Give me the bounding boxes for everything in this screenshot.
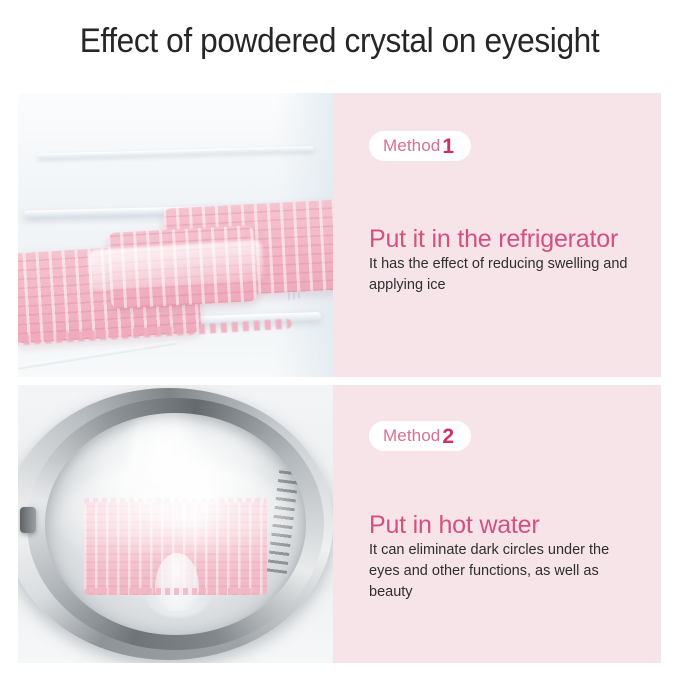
method-2-headline: Put in hot water — [369, 512, 645, 540]
gel-eye-mask-flat — [18, 209, 333, 345]
gel-mask-bead-bottom — [84, 588, 267, 595]
refrigerator-photo — [18, 93, 333, 377]
method-2-badge-word: Method — [383, 426, 440, 446]
method-block-2: Method 2 Put in hot water It can elimina… — [18, 385, 661, 663]
steel-pot-scene — [18, 385, 333, 663]
method-2-badge: Method 2 — [369, 421, 471, 451]
method-1-body: It has the effect of reducing swelling a… — [369, 254, 643, 296]
method-block-1: Method 1 Put it in the refrigerator It h… — [18, 93, 661, 377]
pot-handle — [20, 507, 36, 533]
method-1-badge-word: Method — [383, 136, 440, 156]
page-title: Effect of powdered crystal on eyesight — [24, 22, 655, 61]
method-1-text-column: Method 1 Put it in the refrigerator It h… — [333, 93, 661, 377]
refrigerator-interior — [18, 93, 333, 377]
method-2-text-column: Method 2 Put in hot water It can elimina… — [333, 385, 661, 663]
method-1-badge: Method 1 — [369, 131, 471, 161]
method-1-headline: Put it in the refrigerator — [369, 226, 645, 254]
hot-water-photo — [18, 385, 333, 663]
method-1-badge-number: 1 — [442, 136, 454, 157]
method-2-body: It can eliminate dark circles under the … — [369, 540, 643, 603]
steam-veil — [60, 462, 290, 578]
pot-interior — [45, 413, 306, 635]
method-2-badge-number: 2 — [442, 426, 454, 447]
